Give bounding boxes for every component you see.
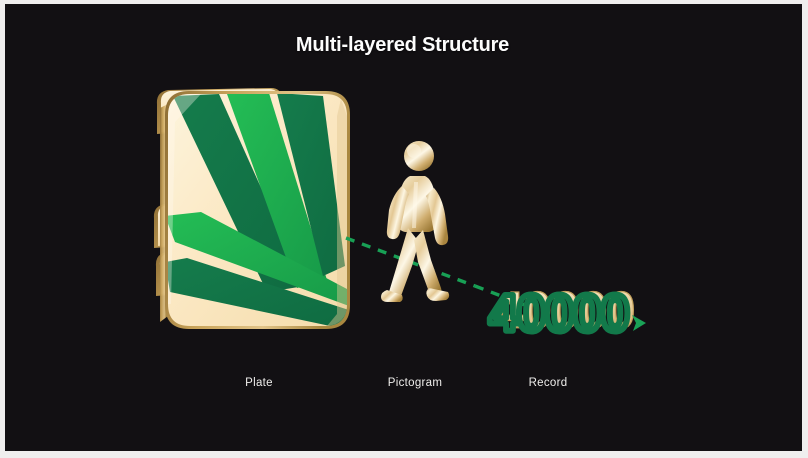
screenshot-frame: Multi-layered Structure	[0, 0, 808, 458]
slide-canvas: Multi-layered Structure	[5, 4, 802, 451]
record-number: 40000	[489, 285, 629, 343]
caption-record: Record	[529, 377, 568, 389]
walking-person-pictogram	[381, 141, 449, 302]
record-number-graphic: 40000 40000	[489, 282, 646, 343]
plate-front	[165, 91, 350, 330]
caption-plate: Plate	[245, 377, 273, 389]
caption-pictogram: Pictogram	[388, 377, 442, 389]
plate-graphic	[154, 88, 350, 330]
